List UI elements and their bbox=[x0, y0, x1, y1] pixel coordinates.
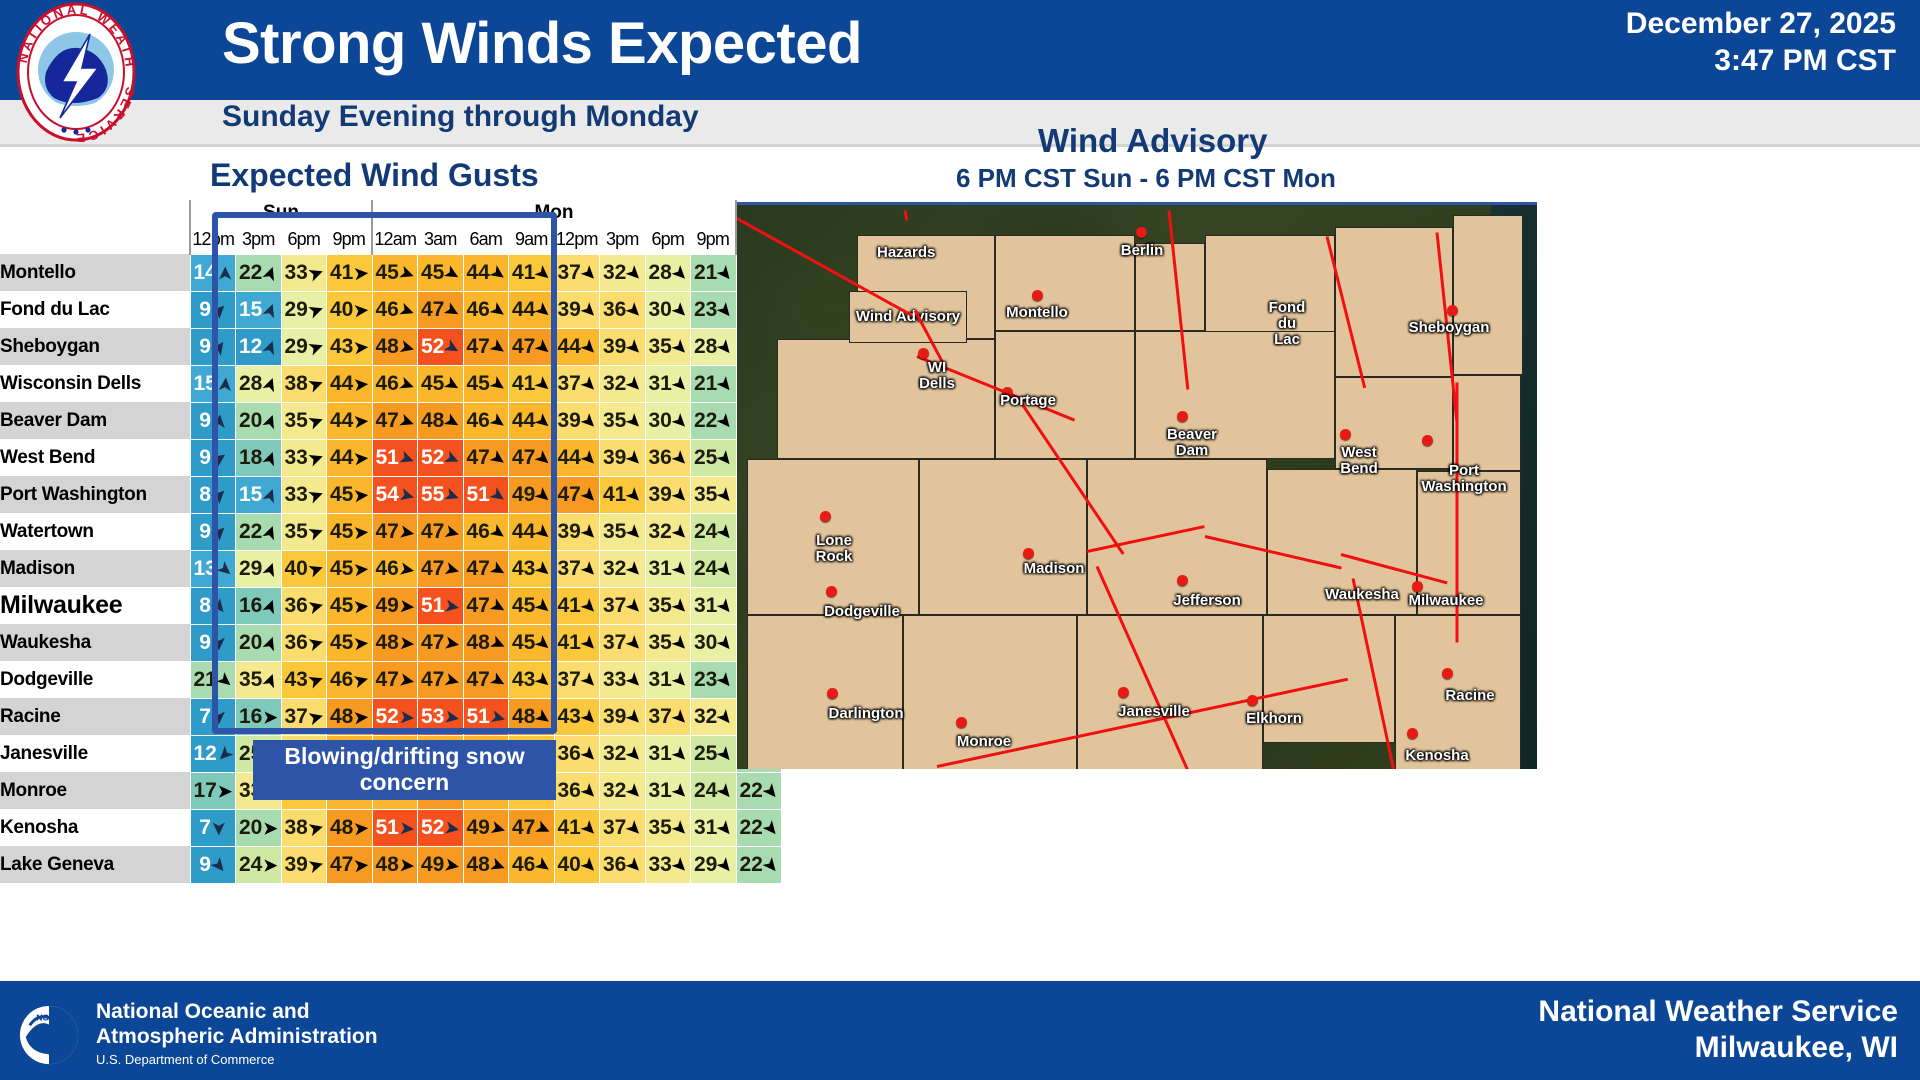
wind-direction-arrow-icon: ➤ bbox=[578, 706, 600, 728]
table-row: Wisconsin Dells15➤28➤38➤44➤46➤45➤45➤41➤3… bbox=[0, 365, 782, 402]
table-row: Kenosha7➤20➤38➤48➤51➤52➤49➤47➤41➤37➤35➤3… bbox=[0, 809, 782, 846]
wind-direction-arrow-icon: ➤ bbox=[397, 448, 416, 469]
gust-cell: 43➤ bbox=[509, 661, 555, 698]
wind-direction-arrow-icon: ➤ bbox=[669, 558, 691, 580]
map-city-label: Kenosha bbox=[1405, 748, 1468, 764]
gust-cell: 47➤ bbox=[418, 513, 464, 550]
table-row: Dodgeville21➤35➤43➤46➤47➤47➤47➤43➤37➤33➤… bbox=[0, 661, 782, 698]
wind-direction-arrow-icon: ➤ bbox=[714, 521, 736, 543]
gust-cell: 49➤ bbox=[418, 846, 464, 883]
gust-cell: 45➤ bbox=[327, 587, 373, 624]
wind-direction-arrow-icon: ➤ bbox=[354, 375, 370, 393]
table-row: Port Washington8➤15➤33➤45➤54➤55➤51➤49➤47… bbox=[0, 476, 782, 513]
wind-direction-arrow-icon: ➤ bbox=[398, 522, 415, 541]
wind-direction-arrow-icon: ➤ bbox=[354, 264, 370, 282]
gust-cell: 40➤ bbox=[281, 550, 327, 587]
gust-cell: 21➤ bbox=[190, 661, 236, 698]
gust-cell: 54➤ bbox=[372, 476, 418, 513]
wind-direction-arrow-icon: ➤ bbox=[669, 484, 691, 506]
wind-direction-arrow-icon: ➤ bbox=[306, 300, 325, 321]
wind-direction-arrow-icon: ➤ bbox=[354, 486, 370, 504]
wind-direction-arrow-icon: ➤ bbox=[260, 522, 281, 541]
wind-direction-arrow-icon: ➤ bbox=[487, 447, 508, 469]
advisory-map[interactable]: Hazards Wind Advisory bbox=[737, 202, 1537, 769]
gust-cell: 12➤ bbox=[190, 735, 236, 772]
wind-direction-arrow-icon: ➤ bbox=[397, 263, 416, 284]
wind-direction-arrow-icon: ➤ bbox=[578, 632, 600, 654]
wind-direction-arrow-icon: ➤ bbox=[533, 484, 555, 506]
gust-cell: 45➤ bbox=[509, 587, 555, 624]
wind-direction-arrow-icon: ➤ bbox=[669, 447, 691, 469]
column-header-4: 12am bbox=[372, 226, 418, 254]
gust-cell: 46➤ bbox=[463, 291, 509, 328]
gust-cell: 51➤ bbox=[418, 587, 464, 624]
gust-cell: 48➤ bbox=[463, 624, 509, 661]
row-city-label: Port Washington bbox=[0, 476, 190, 513]
wind-direction-arrow-icon: ➤ bbox=[208, 336, 230, 357]
gust-cell: 33➤ bbox=[645, 846, 691, 883]
gust-cell: 48➤ bbox=[327, 698, 373, 735]
wind-direction-arrow-icon: ➤ bbox=[487, 262, 508, 284]
gust-cell: 35➤ bbox=[645, 328, 691, 365]
wind-direction-arrow-icon: ➤ bbox=[208, 484, 230, 506]
gust-cell: 28➤ bbox=[645, 254, 691, 291]
gust-cell: 48➤ bbox=[463, 846, 509, 883]
blowing-snow-label: Blowing/drifting snowconcern bbox=[253, 740, 556, 800]
wind-direction-arrow-icon: ➤ bbox=[443, 522, 461, 542]
gust-cell: 47➤ bbox=[372, 661, 418, 698]
gust-cell: 47➤ bbox=[463, 439, 509, 476]
gust-cell: 46➤ bbox=[372, 550, 418, 587]
wind-direction-arrow-icon: ➤ bbox=[211, 710, 228, 724]
wind-direction-arrow-icon: ➤ bbox=[533, 410, 555, 432]
county-polygon bbox=[747, 615, 903, 769]
table-hour-header-row: 12pm3pm6pm9pm12am3am6am9am12pm3pm6pm9pm1… bbox=[0, 226, 782, 254]
wind-direction-arrow-icon: ➤ bbox=[306, 411, 325, 432]
row-city-label: Wisconsin Dells bbox=[0, 365, 190, 402]
gust-cell: 22➤ bbox=[736, 809, 782, 846]
gust-cell: 30➤ bbox=[691, 624, 737, 661]
noaa-logo-icon: NOAA bbox=[18, 1004, 80, 1066]
wind-direction-arrow-icon: ➤ bbox=[306, 448, 325, 469]
wind-direction-arrow-icon: ➤ bbox=[488, 558, 509, 580]
gust-cell: 15➤ bbox=[236, 291, 282, 328]
wind-direction-arrow-icon: ➤ bbox=[669, 669, 691, 691]
gust-cell: 44➤ bbox=[509, 291, 555, 328]
gust-cell: 35➤ bbox=[281, 513, 327, 550]
gust-cell: 22➤ bbox=[236, 513, 282, 550]
gust-cell: 36➤ bbox=[281, 587, 327, 624]
gust-table-title: Expected Wind Gusts bbox=[210, 157, 539, 194]
wind-direction-arrow-icon: ➤ bbox=[211, 821, 228, 835]
gust-cell: 21➤ bbox=[691, 365, 737, 402]
wind-direction-arrow-icon: ➤ bbox=[260, 411, 281, 430]
wind-direction-arrow-icon: ➤ bbox=[488, 855, 507, 876]
gust-cell: 35➤ bbox=[600, 513, 646, 550]
row-city-label: Racine bbox=[0, 698, 190, 735]
wind-direction-arrow-icon: ➤ bbox=[306, 374, 325, 395]
wind-direction-arrow-icon: ➤ bbox=[444, 855, 461, 874]
wind-direction-arrow-icon: ➤ bbox=[354, 856, 370, 874]
map-city-label: Waukesha bbox=[1325, 587, 1399, 603]
gust-cell: 41➤ bbox=[554, 587, 600, 624]
wind-direction-arrow-icon: ➤ bbox=[488, 669, 509, 691]
gust-cell: 49➤ bbox=[509, 476, 555, 513]
wind-direction-arrow-icon: ➤ bbox=[714, 447, 736, 469]
wind-direction-arrow-icon: ➤ bbox=[578, 373, 600, 395]
wind-direction-arrow-icon: ➤ bbox=[669, 410, 691, 432]
map-city-label: FondduLac bbox=[1269, 300, 1306, 347]
wind-direction-arrow-icon: ➤ bbox=[623, 854, 645, 876]
wind-direction-arrow-icon: ➤ bbox=[623, 558, 645, 580]
wind-direction-arrow-icon: ➤ bbox=[354, 597, 370, 615]
wind-direction-arrow-icon: ➤ bbox=[669, 780, 691, 802]
gust-cell: 52➤ bbox=[418, 328, 464, 365]
column-header-3: 9pm bbox=[327, 226, 373, 254]
gust-cell: 48➤ bbox=[372, 846, 418, 883]
wind-direction-arrow-icon: ➤ bbox=[714, 780, 736, 802]
map-city-label: Janesville bbox=[1118, 704, 1190, 720]
map-city-label: Madison bbox=[1024, 561, 1085, 577]
gust-cell: 31➤ bbox=[645, 735, 691, 772]
gust-cell: 39➤ bbox=[600, 698, 646, 735]
wind-direction-arrow-icon: ➤ bbox=[714, 484, 736, 506]
wind-direction-arrow-icon: ➤ bbox=[354, 634, 370, 652]
gust-cell: 9➤ bbox=[190, 402, 236, 439]
gust-cell: 39➤ bbox=[554, 513, 600, 550]
gust-cell: 25➤ bbox=[691, 735, 737, 772]
wind-direction-arrow-icon: ➤ bbox=[210, 413, 228, 429]
gust-cell: 45➤ bbox=[463, 365, 509, 402]
wind-direction-arrow-icon: ➤ bbox=[487, 484, 508, 506]
wind-direction-arrow-icon: ➤ bbox=[397, 374, 416, 395]
slide-root: NATIONAL WEATHER SERVICE Strong Winds Ex… bbox=[0, 0, 1920, 1080]
corner-cell bbox=[0, 200, 190, 226]
wind-direction-arrow-icon: ➤ bbox=[760, 854, 782, 876]
wind-direction-arrow-icon: ➤ bbox=[260, 374, 281, 393]
wind-direction-arrow-icon: ➤ bbox=[442, 447, 462, 468]
wind-direction-arrow-icon: ➤ bbox=[214, 558, 236, 580]
row-city-label: Dodgeville bbox=[0, 661, 190, 698]
noaa-agency-text: National Oceanic and Atmospheric Adminis… bbox=[96, 999, 378, 1068]
gust-cell: 32➤ bbox=[600, 365, 646, 402]
gust-cell: 37➤ bbox=[600, 624, 646, 661]
gust-cell: 47➤ bbox=[554, 476, 600, 513]
wind-direction-arrow-icon: ➤ bbox=[260, 337, 281, 356]
column-header-10: 6pm bbox=[645, 226, 691, 254]
gust-cell: 47➤ bbox=[372, 513, 418, 550]
gust-cell: 44➤ bbox=[509, 513, 555, 550]
wind-direction-arrow-icon: ➤ bbox=[306, 559, 325, 580]
wind-direction-arrow-icon: ➤ bbox=[578, 558, 600, 580]
wind-direction-arrow-icon: ➤ bbox=[578, 410, 600, 432]
gust-cell: 8➤ bbox=[190, 587, 236, 624]
wind-direction-arrow-icon: ➤ bbox=[442, 262, 463, 284]
wind-direction-arrow-icon: ➤ bbox=[623, 373, 645, 395]
map-city-label: WestBend bbox=[1340, 445, 1378, 477]
wind-direction-arrow-icon: ➤ bbox=[623, 262, 645, 284]
wind-direction-arrow-icon: ➤ bbox=[398, 485, 416, 505]
issuance-date: December 27, 2025 bbox=[1626, 6, 1896, 43]
wind-direction-arrow-icon: ➤ bbox=[307, 818, 325, 838]
gust-cell: 47➤ bbox=[372, 402, 418, 439]
gust-cell: 45➤ bbox=[418, 254, 464, 291]
gust-cell: 36➤ bbox=[554, 772, 600, 809]
wind-direction-arrow-icon: ➤ bbox=[488, 632, 508, 653]
wind-direction-arrow-icon: ➤ bbox=[623, 706, 645, 728]
gust-cell: 35➤ bbox=[281, 402, 327, 439]
map-title: Wind Advisory bbox=[1038, 122, 1268, 160]
gust-cell: 37➤ bbox=[600, 809, 646, 846]
wind-direction-arrow-icon: ➤ bbox=[306, 337, 325, 358]
table-row: Milwaukee8➤16➤36➤45➤49➤51➤47➤45➤41➤37➤35… bbox=[0, 587, 782, 624]
map-city-label: PortWashington bbox=[1421, 463, 1506, 495]
gust-cell: 39➤ bbox=[600, 328, 646, 365]
gust-cell: 13➤ bbox=[190, 550, 236, 587]
column-header-6: 6am bbox=[463, 226, 509, 254]
wind-direction-arrow-icon: ➤ bbox=[444, 633, 461, 652]
wind-direction-arrow-icon: ➤ bbox=[669, 595, 691, 617]
wind-direction-arrow-icon: ➤ bbox=[216, 266, 233, 280]
gust-cell: 29➤ bbox=[281, 328, 327, 365]
map-city-label: Racine bbox=[1445, 688, 1494, 704]
gust-cell: 41➤ bbox=[554, 809, 600, 846]
wind-direction-arrow-icon: ➤ bbox=[669, 632, 691, 654]
row-city-label: Beaver Dam bbox=[0, 402, 190, 439]
gust-cell: 52➤ bbox=[418, 439, 464, 476]
gust-cell: 36➤ bbox=[600, 846, 646, 883]
gust-cell: 37➤ bbox=[554, 365, 600, 402]
gust-cell: 14➤ bbox=[190, 254, 236, 291]
page-subtitle: Sunday Evening through Monday bbox=[222, 100, 699, 134]
wind-direction-arrow-icon: ➤ bbox=[714, 706, 736, 728]
gust-cell: 46➤ bbox=[463, 513, 509, 550]
gust-cell: 23➤ bbox=[691, 661, 737, 698]
gust-cell: 18➤ bbox=[236, 439, 282, 476]
wind-direction-arrow-icon: ➤ bbox=[578, 743, 600, 765]
gust-cell: 24➤ bbox=[691, 772, 737, 809]
gust-cell: 47➤ bbox=[463, 587, 509, 624]
wind-direction-arrow-icon: ➤ bbox=[669, 299, 691, 321]
wind-direction-arrow-icon: ➤ bbox=[354, 412, 370, 430]
gust-cell: 31➤ bbox=[645, 365, 691, 402]
gust-cell: 35➤ bbox=[645, 587, 691, 624]
map-city-label: BeaverDam bbox=[1167, 427, 1217, 459]
column-header-1: 3pm bbox=[236, 226, 282, 254]
wind-direction-arrow-icon: ➤ bbox=[623, 669, 645, 691]
wind-direction-arrow-icon: ➤ bbox=[760, 817, 782, 839]
gust-cell: 41➤ bbox=[554, 624, 600, 661]
map-city-label: Jefferson bbox=[1173, 593, 1241, 609]
gust-cell: 52➤ bbox=[372, 698, 418, 735]
wind-direction-arrow-icon: ➤ bbox=[533, 595, 555, 617]
header-divider bbox=[0, 144, 1920, 147]
wind-direction-arrow-icon: ➤ bbox=[260, 300, 281, 319]
table-row: Lake Geneva9➤24➤39➤47➤48➤49➤48➤46➤40➤36➤… bbox=[0, 846, 782, 883]
wind-direction-arrow-icon: ➤ bbox=[307, 855, 325, 875]
gust-cell: 41➤ bbox=[327, 254, 373, 291]
wind-direction-arrow-icon: ➤ bbox=[578, 262, 600, 284]
gust-cell: 40➤ bbox=[554, 846, 600, 883]
wind-direction-arrow-icon: ➤ bbox=[211, 636, 228, 650]
wind-direction-arrow-icon: ➤ bbox=[444, 707, 461, 726]
gust-cell: 23➤ bbox=[691, 291, 737, 328]
wind-direction-arrow-icon: ➤ bbox=[354, 338, 370, 356]
wind-direction-arrow-icon: ➤ bbox=[533, 854, 554, 876]
wind-direction-arrow-icon: ➤ bbox=[714, 262, 736, 284]
gust-cell: 32➤ bbox=[691, 698, 737, 735]
gust-cell: 43➤ bbox=[509, 550, 555, 587]
column-header-9: 3pm bbox=[600, 226, 646, 254]
gust-cell: 22➤ bbox=[736, 846, 782, 883]
gust-cell: 45➤ bbox=[372, 254, 418, 291]
column-header-2: 6pm bbox=[281, 226, 327, 254]
wind-direction-arrow-icon: ➤ bbox=[714, 336, 736, 358]
map-city-label: Darlington bbox=[829, 706, 904, 722]
wind-direction-arrow-icon: ➤ bbox=[623, 447, 645, 469]
wind-direction-arrow-icon: ➤ bbox=[578, 521, 600, 543]
row-city-label: Fond du Lac bbox=[0, 291, 190, 328]
gust-cell: 51➤ bbox=[463, 698, 509, 735]
gust-cell: 28➤ bbox=[691, 328, 737, 365]
wind-direction-arrow-icon: ➤ bbox=[306, 670, 325, 691]
noaa-line-3: U.S. Department of Commerce bbox=[96, 1052, 378, 1068]
wind-direction-arrow-icon: ➤ bbox=[714, 743, 736, 765]
wind-direction-arrow-icon: ➤ bbox=[488, 595, 509, 617]
wind-direction-arrow-icon: ➤ bbox=[307, 596, 325, 616]
wind-direction-arrow-icon: ➤ bbox=[714, 595, 736, 617]
table-day-header-row: Sun Mon bbox=[0, 200, 782, 226]
gust-cell: 37➤ bbox=[281, 698, 327, 735]
wind-direction-arrow-icon: ➤ bbox=[352, 670, 370, 690]
gust-cell: 46➤ bbox=[463, 402, 509, 439]
wind-direction-arrow-icon: ➤ bbox=[208, 299, 230, 321]
gust-cell: 29➤ bbox=[691, 846, 737, 883]
gust-cell: 47➤ bbox=[463, 328, 509, 365]
wind-direction-arrow-icon: ➤ bbox=[623, 817, 645, 839]
gust-cell: 37➤ bbox=[600, 587, 646, 624]
wind-direction-arrow-icon: ➤ bbox=[263, 857, 277, 874]
wind-direction-arrow-icon: ➤ bbox=[623, 410, 645, 432]
gust-cell: 44➤ bbox=[327, 402, 373, 439]
wind-direction-arrow-icon: ➤ bbox=[623, 780, 645, 802]
gust-cell: 31➤ bbox=[645, 550, 691, 587]
wind-direction-arrow-icon: ➤ bbox=[533, 521, 555, 543]
gust-cell: 49➤ bbox=[372, 587, 418, 624]
wind-direction-arrow-icon: ➤ bbox=[443, 670, 461, 690]
gust-cell: 16➤ bbox=[236, 587, 282, 624]
wind-direction-arrow-icon: ➤ bbox=[760, 780, 782, 802]
wind-direction-arrow-icon: ➤ bbox=[487, 410, 508, 432]
wind-direction-arrow-icon: ➤ bbox=[533, 262, 555, 284]
wind-direction-arrow-icon: ➤ bbox=[623, 336, 645, 358]
map-city-label: Monroe bbox=[957, 734, 1011, 750]
gust-cell: 47➤ bbox=[418, 291, 464, 328]
gust-cell: 47➤ bbox=[327, 846, 373, 883]
gust-cell: 8➤ bbox=[190, 476, 236, 513]
gust-cell: 48➤ bbox=[418, 402, 464, 439]
gust-cell: 7➤ bbox=[190, 809, 236, 846]
wind-direction-arrow-icon: ➤ bbox=[398, 559, 415, 578]
gust-cell: 24➤ bbox=[691, 513, 737, 550]
gust-cell: 41➤ bbox=[509, 254, 555, 291]
gust-cell: 35➤ bbox=[236, 661, 282, 698]
gust-cell: 20➤ bbox=[236, 402, 282, 439]
county-polygon bbox=[1453, 375, 1521, 471]
wind-direction-arrow-icon: ➤ bbox=[208, 447, 229, 469]
wind-direction-arrow-icon: ➤ bbox=[669, 336, 691, 358]
row-city-label: Janesville bbox=[0, 735, 190, 772]
wind-direction-arrow-icon: ➤ bbox=[623, 521, 645, 543]
gust-cell: 20➤ bbox=[236, 809, 282, 846]
map-city-label: Portage bbox=[1000, 393, 1056, 409]
wind-direction-arrow-icon: ➤ bbox=[623, 299, 645, 321]
gust-cell: 28➤ bbox=[236, 365, 282, 402]
wind-direction-arrow-icon: ➤ bbox=[487, 373, 508, 395]
gust-cell: 17➤ bbox=[190, 772, 236, 809]
wind-direction-arrow-icon: ➤ bbox=[714, 817, 736, 839]
wind-direction-arrow-icon: ➤ bbox=[260, 263, 281, 282]
gust-cell: 44➤ bbox=[327, 439, 373, 476]
wind-direction-arrow-icon: ➤ bbox=[623, 743, 645, 765]
row-city-label: West Bend bbox=[0, 439, 190, 476]
wind-direction-arrow-icon: ➤ bbox=[214, 743, 236, 765]
wind-direction-arrow-icon: ➤ bbox=[354, 301, 370, 319]
wind-direction-arrow-icon: ➤ bbox=[669, 521, 691, 543]
gust-cell: 44➤ bbox=[327, 365, 373, 402]
gust-cell: 40➤ bbox=[327, 291, 373, 328]
row-city-label: Waukesha bbox=[0, 624, 190, 661]
gust-cell: 46➤ bbox=[327, 661, 373, 698]
gust-cell: 30➤ bbox=[645, 291, 691, 328]
gust-cell: 53➤ bbox=[418, 698, 464, 735]
table-row: Watertown9➤22➤35➤45➤47➤47➤46➤44➤39➤35➤32… bbox=[0, 513, 782, 550]
gust-cell: 22➤ bbox=[736, 772, 782, 809]
gust-cell: 48➤ bbox=[372, 624, 418, 661]
row-city-label: Montello bbox=[0, 254, 190, 291]
gust-cell: 21➤ bbox=[691, 254, 737, 291]
gust-cell: 46➤ bbox=[372, 365, 418, 402]
wind-direction-arrow-icon: ➤ bbox=[354, 449, 370, 467]
wind-direction-arrow-icon: ➤ bbox=[578, 299, 600, 321]
wind-direction-arrow-icon: ➤ bbox=[533, 817, 553, 838]
row-city-label: Monroe bbox=[0, 772, 190, 809]
wind-direction-arrow-icon: ➤ bbox=[487, 521, 508, 543]
wind-direction-arrow-icon: ➤ bbox=[399, 856, 415, 874]
office-identifier: National Weather Service Milwaukee, WI bbox=[1538, 994, 1898, 1066]
gust-cell: 37➤ bbox=[554, 254, 600, 291]
table-row: Waukesha9➤20➤36➤45➤48➤47➤48➤45➤41➤37➤35➤… bbox=[0, 624, 782, 661]
wind-direction-arrow-icon: ➤ bbox=[533, 447, 555, 469]
wind-direction-arrow-icon: ➤ bbox=[669, 854, 691, 876]
wind-direction-arrow-icon: ➤ bbox=[714, 410, 736, 432]
wind-direction-arrow-icon: ➤ bbox=[714, 669, 736, 691]
gust-cell: 46➤ bbox=[372, 291, 418, 328]
wind-direction-arrow-icon: ➤ bbox=[399, 634, 415, 652]
gust-cell: 9➤ bbox=[190, 513, 236, 550]
gust-cell: 47➤ bbox=[509, 328, 555, 365]
gust-cell: 37➤ bbox=[554, 661, 600, 698]
wind-direction-arrow-icon: ➤ bbox=[623, 632, 645, 654]
gust-cell: 48➤ bbox=[509, 698, 555, 735]
gust-cell: 51➤ bbox=[463, 476, 509, 513]
row-city-label: Watertown bbox=[0, 513, 190, 550]
wind-direction-arrow-icon: ➤ bbox=[578, 447, 600, 469]
wind-direction-arrow-icon: ➤ bbox=[487, 336, 508, 358]
wind-direction-arrow-icon: ➤ bbox=[533, 669, 555, 691]
wind-direction-arrow-icon: ➤ bbox=[669, 706, 691, 728]
wind-direction-arrow-icon: ➤ bbox=[533, 558, 555, 580]
